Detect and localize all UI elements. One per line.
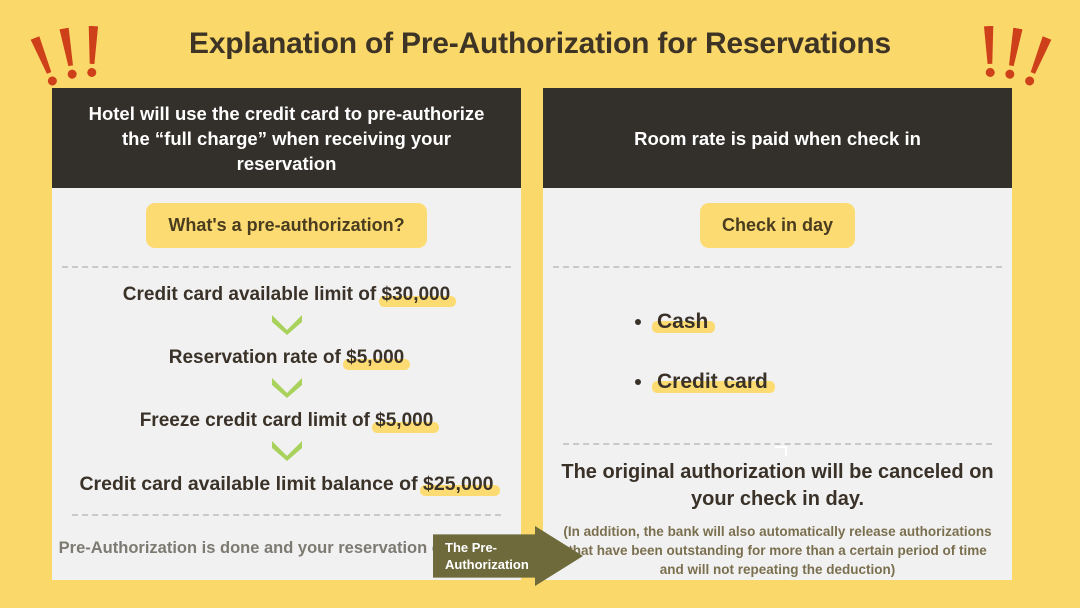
page-title: Explanation of Pre-Authorization for Res… [189,27,891,61]
chevron-down-icon [270,439,304,461]
flow-step-text: Reservation rate of [169,347,346,368]
chevron-down-icon [270,313,304,335]
exclamation-mark-icon [58,27,80,79]
title-bar: Explanation of Pre-Authorization for Res… [0,0,1080,88]
exclamation-marks-icon-left [36,22,116,82]
flow-step: Credit card available limit balance of $… [52,471,521,497]
flow-step-amount: $30,000 [382,282,451,308]
conclusion-note: (In addition, the bank will also automat… [557,513,998,579]
what-is-preauthorization-chip[interactable]: What's a pre-authorization? [146,203,426,248]
preauthorization-flow: Credit card available limit of $30,000 R… [52,268,521,497]
right-panel-header: Room rate is paid when check in [543,88,1012,188]
list-item-label: Credit card [657,370,768,394]
flow-step-amount: $5,000 [375,408,433,434]
preauthorization-arrow-callout: The Pre-Authorization [433,526,583,586]
flow-step-text: Credit card available limit balance of [79,473,423,495]
left-panel: Hotel will use the credit card to pre-au… [52,88,521,580]
flow-step-amount: $25,000 [423,471,494,497]
chevron-down-icon [270,376,304,398]
left-panel-body: What's a pre-authorization? Credit card … [52,188,521,580]
flow-step: Reservation rate of $5,000 [52,345,521,371]
flow-step-amount: $5,000 [346,345,404,371]
flow-step-text: Credit card available limit of [123,284,382,305]
left-chip-row: What's a pre-authorization? [52,188,521,248]
list-item: Credit card [635,370,1012,394]
check-in-day-chip[interactable]: Check in day [700,203,855,248]
exclamation-mark-icon [982,26,997,77]
payment-method-list: Cash Credit card [543,268,1012,394]
list-item: Cash [635,310,1012,334]
flow-step-text: Freeze credit card limit of [140,410,375,431]
exclamation-mark-icon [1003,27,1025,79]
flow-step: Credit card available limit of $30,000 [52,282,521,308]
right-panel: Room rate is paid when check in Check in… [543,88,1012,580]
right-panel-conclusion: The original authorization will be cance… [543,445,1012,580]
left-panel-header: Hotel will use the credit card to pre-au… [52,88,521,188]
exclamation-marks-icon-right [966,22,1046,82]
arrow-callout-label: The Pre-Authorization [445,539,535,573]
bullet-dot-icon [635,379,641,385]
flow-step: Freeze credit card limit of $5,000 [52,408,521,434]
right-panel-body: Check in day Cash Credit card The origin… [543,188,1012,580]
list-item-label: Cash [657,310,708,334]
right-chip-row: Check in day [543,188,1012,248]
exclamation-mark-icon [85,26,100,77]
bullet-dot-icon [635,319,641,325]
conclusion-heading: The original authorization will be cance… [557,445,998,513]
